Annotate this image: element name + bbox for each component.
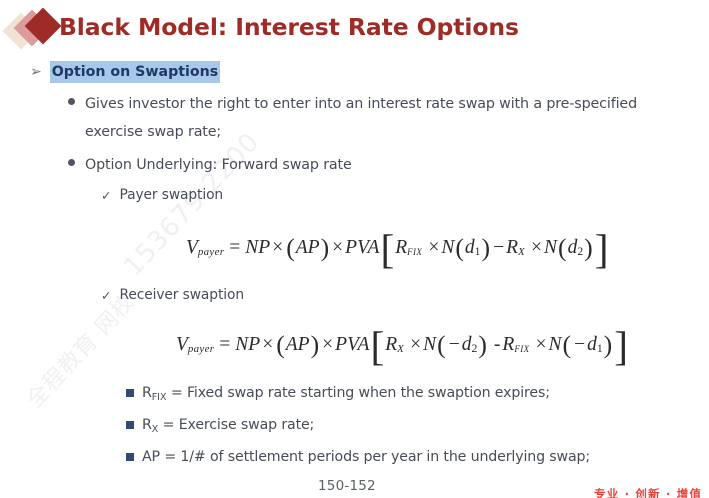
formula-np: NP <box>245 237 270 259</box>
definition-item: AP = 1/# of settlement periods per year … <box>126 446 590 470</box>
section-heading-option-on-swaptions: ➢ Option on Swaptions <box>30 61 220 83</box>
arrow-bullet-icon: ➢ <box>30 62 42 82</box>
definition-symbol: R <box>142 417 152 433</box>
formula-term2-sub: FIX <box>514 344 529 354</box>
formula-pva: PVA <box>345 237 379 259</box>
formula-times-4: × <box>533 334 548 356</box>
round-bullet-icon <box>68 98 75 105</box>
formula-np: NP <box>235 334 260 356</box>
formula-lhs-var: V <box>176 334 188 356</box>
formula-n2-open: ( <box>557 233 568 263</box>
formula-lhs-sub: payer <box>188 343 214 355</box>
formula-n2: N <box>548 334 561 356</box>
formula-n1-close: ) <box>481 233 492 263</box>
slide-body: ➢ Option on Swaptions Gives investor the… <box>0 0 709 498</box>
formula-n2-close: ) <box>583 233 594 263</box>
square-bullet-icon <box>126 453 134 461</box>
formula-n1-open: ( <box>454 233 465 263</box>
formula-close-paren: ) <box>320 233 331 263</box>
square-bullet-icon <box>126 421 134 429</box>
formula-d2: d <box>587 334 597 356</box>
formula-n1-close: ) <box>477 330 488 360</box>
formula-times-3: × <box>426 237 441 259</box>
formula-n1-neg: − <box>447 334 462 356</box>
definition-text: AP = 1/# of settlement periods per year … <box>142 446 590 470</box>
bullet-text: Option Underlying: Forward swap rate <box>85 151 352 179</box>
definition-symbol-sub: X <box>152 424 159 435</box>
formula-ap: AP <box>296 237 320 259</box>
section-heading-label: Option on Swaptions <box>50 61 220 83</box>
round-bullet-icon <box>68 159 75 166</box>
formula-d1: d <box>462 334 472 356</box>
formula-times-4: × <box>529 237 544 259</box>
formula-ap: AP <box>286 334 310 356</box>
page-number: 150-152 <box>318 478 376 494</box>
formula-open-bracket: [ <box>369 322 385 370</box>
page-title: Black Model: Interest Rate Options <box>59 13 519 41</box>
bullet-item: Gives investor the right to enter into a… <box>68 90 682 146</box>
formula-close-bracket: ] <box>594 225 610 273</box>
formula-d2: d <box>568 237 578 259</box>
formula-times-1: × <box>270 237 285 259</box>
formula-minus: - <box>492 334 503 356</box>
sub-bullet-label: Payer swaption <box>119 185 223 205</box>
formula-n1: N <box>423 334 436 356</box>
bullet-item: Option Underlying: Forward swap rate <box>68 151 682 179</box>
definition-item: RX = Exercise swap rate; <box>126 414 314 438</box>
definition-item: RFIX = Fixed swap rate starting when the… <box>126 382 550 406</box>
formula-open-paren: ( <box>285 233 296 263</box>
formula-pva: PVA <box>335 334 369 356</box>
footer-brand-text: 专业 · 创新 · 增值 <box>594 486 702 498</box>
definition-symbol: AP <box>142 449 160 465</box>
formula-n2-open: ( <box>561 330 572 360</box>
title-bar: Black Model: Interest Rate Options <box>0 6 709 50</box>
formula-open-bracket: [ <box>379 225 395 273</box>
formula-term2-sub: X <box>518 246 525 258</box>
definition-rest: = 1/# of settlement periods per year in … <box>160 449 590 465</box>
definition-symbol-sub: FIX <box>152 392 167 403</box>
sub-bullet-item-receiver: ✓ Receiver swaption <box>101 285 244 306</box>
definition-text: RX = Exercise swap rate; <box>142 414 314 438</box>
formula-equals: = <box>224 237 245 259</box>
formula-term1-sub: X <box>397 343 404 355</box>
slide-canvas: 153679 2200 全程教育 网校 Black Model: Interes… <box>0 0 709 498</box>
formula-lhs-var: V <box>186 237 198 259</box>
formula-open-paren: ( <box>275 330 286 360</box>
formula-times-2: × <box>320 334 335 356</box>
formula-equals: = <box>214 334 235 356</box>
formula-term1-sub: FIX <box>407 247 422 257</box>
formula-close-paren: ) <box>310 330 321 360</box>
check-bullet-icon: ✓ <box>101 186 111 206</box>
formula-n1: N <box>441 237 454 259</box>
definition-rest: = Exercise swap rate; <box>158 417 314 433</box>
definition-symbol: R <box>142 385 152 401</box>
sub-bullet-label: Receiver swaption <box>119 285 244 305</box>
formula-d1: d <box>465 237 475 259</box>
definition-text: RFIX = Fixed swap rate starting when the… <box>142 382 550 406</box>
formula-n2-neg: − <box>572 334 587 356</box>
formula-term2-var: R <box>502 334 514 356</box>
formula-lhs-sub: payer <box>198 246 224 258</box>
formula-minus: − <box>491 237 506 259</box>
formula-times-1: × <box>260 334 275 356</box>
formula-n1-open: ( <box>436 330 447 360</box>
formula-payer-swaption: Vpayer=NP×(AP)×PVA[RFIX×N(d1)−RX×N(d2)] <box>186 224 610 272</box>
bullet-text: Gives investor the right to enter into a… <box>85 90 682 146</box>
definition-rest: = Fixed swap rate starting when the swap… <box>167 385 550 401</box>
square-bullet-icon <box>126 389 134 397</box>
formula-term1-var: R <box>385 334 397 356</box>
sub-bullet-item-payer: ✓ Payer swaption <box>101 185 223 206</box>
check-bullet-icon: ✓ <box>101 286 111 306</box>
formula-term1-var: R <box>395 237 407 259</box>
formula-receiver-swaption: Vpayer=NP×(AP)×PVA[RX×N(−d2)-RFIX×N(−d1)… <box>176 321 629 369</box>
formula-close-bracket: ] <box>613 322 629 370</box>
formula-times-2: × <box>330 237 345 259</box>
formula-n2: N <box>544 237 557 259</box>
formula-times-3: × <box>408 334 423 356</box>
formula-term2-var: R <box>506 237 518 259</box>
formula-n2-close: ) <box>603 330 614 360</box>
